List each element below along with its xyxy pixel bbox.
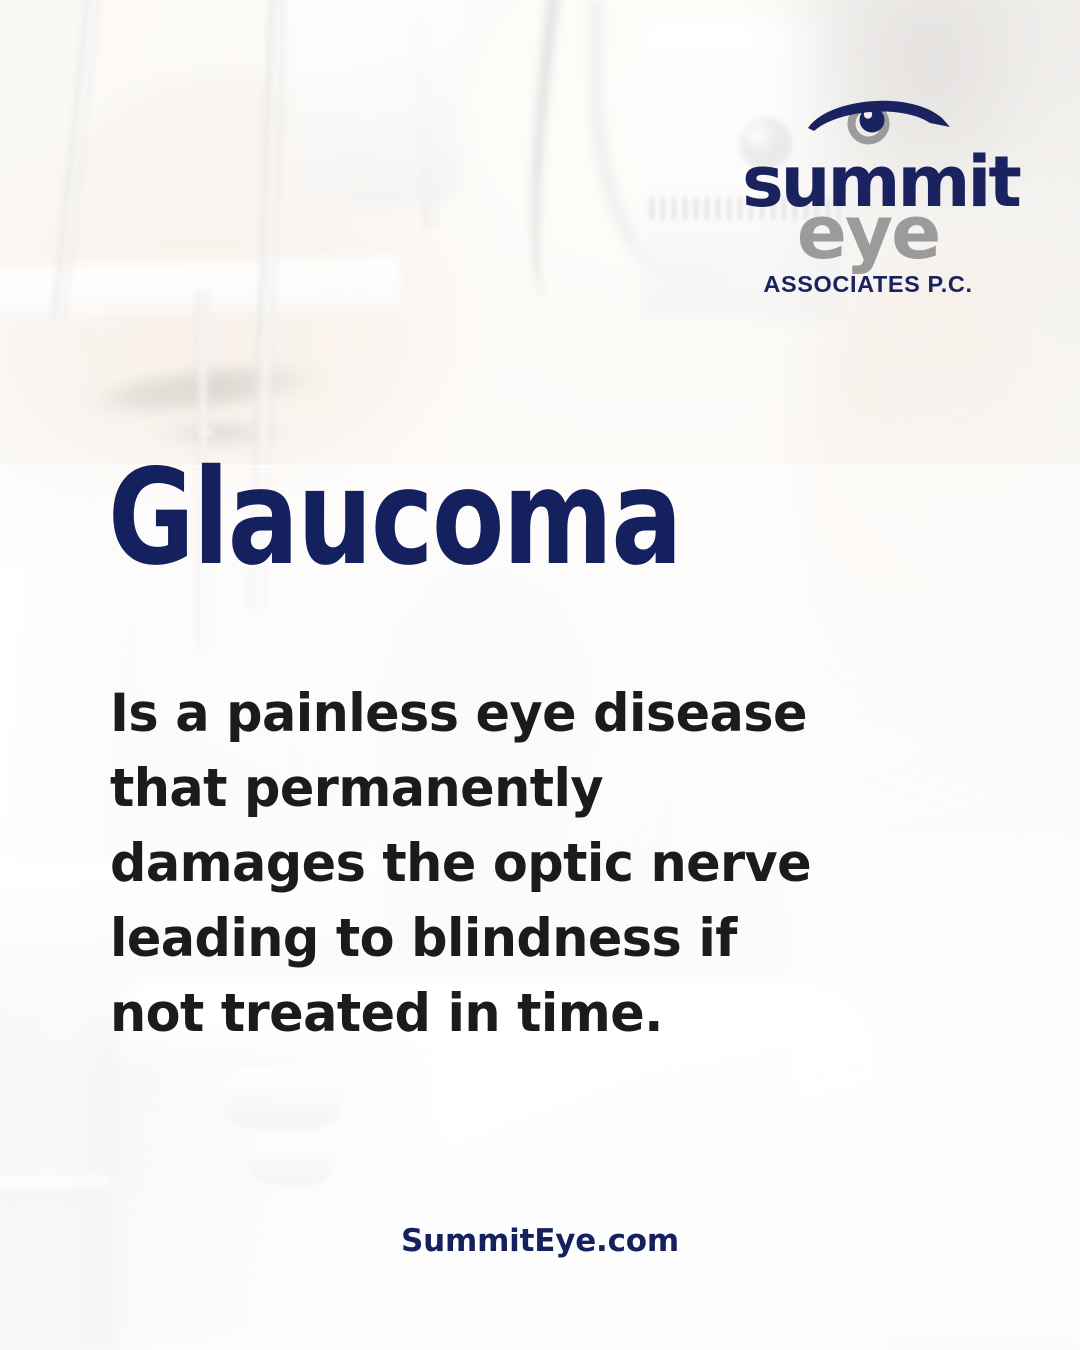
website-url[interactable]: SummitEye.com (0, 1223, 1080, 1259)
body-copy-line: leading to blindness if (110, 901, 868, 976)
body-copy-line: Is a painless eye disease (110, 676, 868, 751)
page-title: Glaucoma (108, 452, 681, 584)
logo-tagline: ASSOCIATES P.C. (742, 273, 994, 297)
body-copy-line: that permanently (110, 751, 868, 826)
brand-logo[interactable]: summit eye ASSOCIATES P.C. (742, 92, 994, 296)
body-copy: Is a painless eye disease that permanent… (110, 676, 868, 1051)
social-post-card: summit eye ASSOCIATES P.C. Glaucoma Is a… (0, 0, 1080, 1350)
body-copy-line: damages the optic nerve (110, 826, 868, 901)
body-copy-line: not treated in time. (110, 976, 868, 1051)
poster-content: summit eye ASSOCIATES P.C. Glaucoma Is a… (0, 0, 1080, 1350)
